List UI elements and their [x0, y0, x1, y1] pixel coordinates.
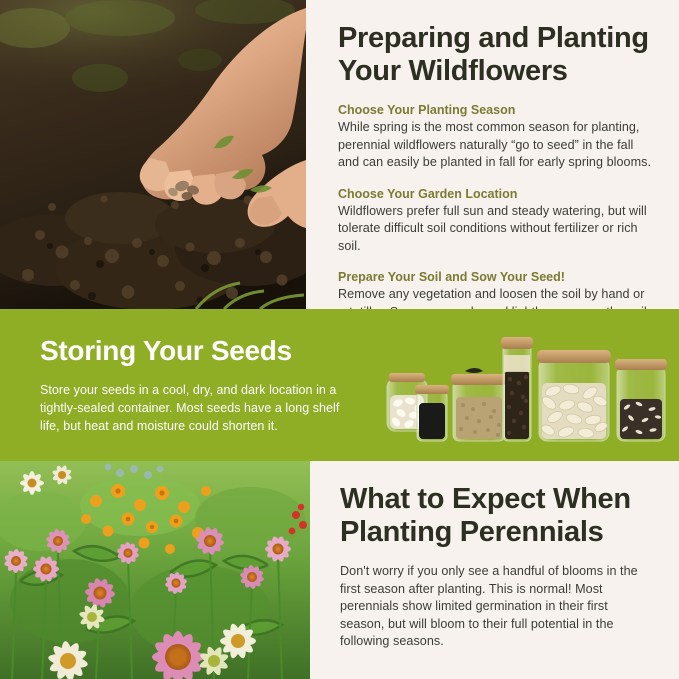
subtitle-garden-location: Choose Your Garden Location: [338, 186, 653, 202]
storing-body: Store your seeds in a cool, dry, and dar…: [40, 381, 350, 435]
storing-title: Storing Your Seeds: [40, 335, 350, 367]
storing-text-panel: Storing Your Seeds Store your seeds in a…: [40, 335, 350, 435]
infographic-page: Preparing and Planting Your Wildflowers …: [0, 0, 679, 679]
expect-title: What to Expect When Planting Perennials: [340, 483, 649, 549]
expect-text-panel: What to Expect When Planting Perennials …: [310, 461, 679, 679]
body-planting-season: While spring is the most common season f…: [338, 119, 653, 172]
seed-jars-photo: [381, 325, 671, 455]
soil-planting-photo: [0, 0, 306, 309]
subtitle-prepare-soil: Prepare Your Soil and Sow Your Seed!: [338, 269, 653, 285]
intro-title: Preparing and Planting Your Wildflowers: [338, 22, 653, 88]
storing-seeds-section: Storing Your Seeds Store your seeds in a…: [0, 309, 679, 461]
body-garden-location: Wildflowers prefer full sun and steady w…: [338, 203, 653, 256]
subtitle-planting-season: Choose Your Planting Season: [338, 102, 653, 118]
expect-body: Don't worry if you only see a handful of…: [340, 563, 649, 651]
intro-section: Preparing and Planting Your Wildflowers …: [0, 0, 679, 309]
intro-text-panel: Preparing and Planting Your Wildflowers …: [306, 0, 679, 309]
expect-section: What to Expect When Planting Perennials …: [0, 461, 679, 679]
wildflower-meadow-photo: [0, 461, 310, 679]
